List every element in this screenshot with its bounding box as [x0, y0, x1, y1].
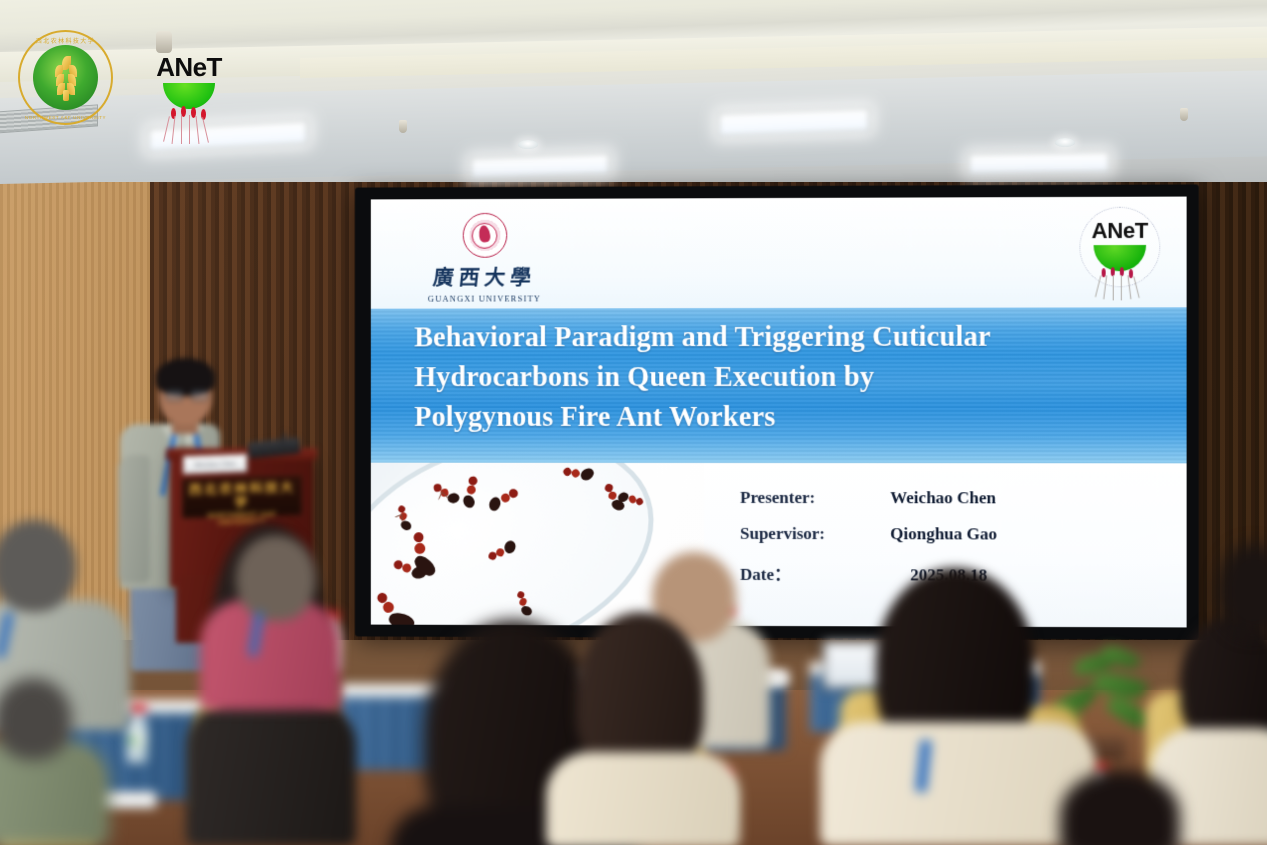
presentation-screen: 廣西大學 GUANGXI UNIVERSITY ANeT: [355, 184, 1199, 639]
logo-en-text: NORTHWEST A&F UNIVERSITY: [18, 115, 113, 120]
bottle-cap: [127, 704, 147, 712]
anet-slide-logo: ANeT: [1075, 205, 1164, 301]
anet-ants-icon: [1092, 267, 1149, 299]
slide-title: Behavioral Paradigm and Triggering Cutic…: [414, 317, 1134, 438]
presenter-label: Presenter:: [740, 488, 890, 508]
audience-head: [0, 520, 76, 612]
slide-content: 廣西大學 GUANGXI UNIVERSITY ANeT: [371, 197, 1187, 628]
water-bottle: [127, 704, 147, 763]
ceiling-panel-light: [470, 153, 610, 180]
presenter-value: Weichao Chen: [890, 488, 996, 508]
anet-wordmark: ANeT: [1075, 218, 1164, 244]
audience-head: [236, 535, 316, 621]
glasses-icon: [166, 390, 208, 402]
sprinkler-head: [399, 120, 407, 133]
conference-presentation-photo: 西北农林科技大学 NORTHWEST A&F UNIVERSITY ANeT 廣…: [0, 0, 1267, 845]
presenter-arm: [118, 455, 150, 583]
logo-disc: [33, 45, 98, 110]
anet-room-logo: ANeT: [150, 52, 228, 144]
university-seal-icon: [462, 213, 507, 258]
sprinkler-head: [1180, 108, 1188, 121]
audience-shoulders: [186, 702, 356, 845]
speaker-name-card: Weichao Chen: [183, 454, 247, 474]
audience-head: [0, 678, 72, 760]
info-row-supervisor: Supervisor: Qionghua Gao: [740, 524, 1162, 545]
audience-shoulders: [546, 752, 740, 845]
university-cn-name: 廣西大學: [409, 262, 561, 292]
audience-shoulders: [820, 722, 1096, 845]
anet-wordmark: ANeT: [150, 52, 228, 83]
bottle-body: [127, 719, 147, 763]
date-label: Date：: [740, 560, 890, 585]
ceiling-downlight: [518, 140, 538, 149]
slide-title-line-3: Polygynous Fire Ant Workers: [414, 398, 1134, 438]
lectern-cn-text: 西北农林科技大学: [183, 480, 301, 511]
logo-cn-text: 西北农林科技大学: [18, 36, 113, 45]
supervisor-value: Qionghua Gao: [890, 524, 997, 544]
guangxi-university-logo: 廣西大學 GUANGXI UNIVERSITY: [410, 213, 559, 301]
wheat-icon: [55, 56, 77, 100]
lectern-nameplate: 西北农林科技大学 NORTHWEST A&F UNIVERSITY: [182, 475, 302, 518]
slide-title-line-1: Behavioral Paradigm and Triggering Cutic…: [414, 317, 1134, 358]
bottle-neck: [132, 712, 143, 719]
ceiling-downlight: [1055, 138, 1075, 147]
anet-ants-icon: [160, 106, 218, 144]
slide-title-line-2: Hydrocarbons in Queen Execution by: [414, 358, 1134, 398]
lectern-en-text: NORTHWEST A&F UNIVERSITY: [183, 510, 301, 527]
supervisor-label: Supervisor:: [740, 524, 890, 544]
info-row-presenter: Presenter: Weichao Chen: [740, 488, 1162, 509]
northwest-afu-logo: 西北农林科技大学 NORTHWEST A&F UNIVERSITY: [18, 30, 113, 125]
ceiling-panel-light: [968, 151, 1110, 175]
bottle-label: [127, 731, 147, 748]
university-en-name: GUANGXI UNIVERSITY: [410, 293, 559, 303]
smoke-detector: [156, 31, 172, 53]
